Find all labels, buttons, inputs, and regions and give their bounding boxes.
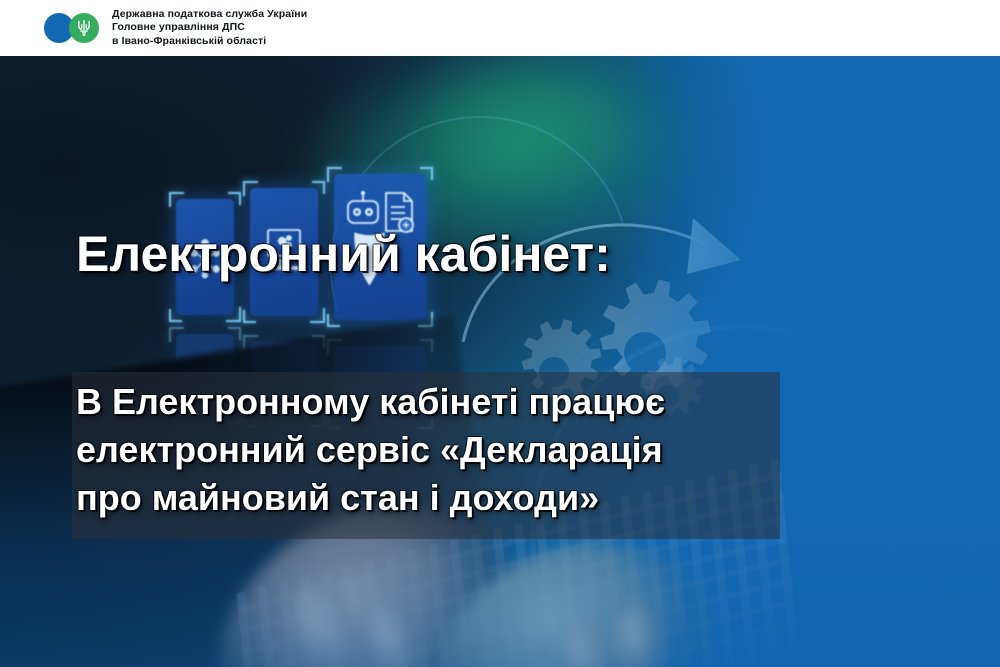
- hero-banner: Електронний кабінет: В Електронному кабі…: [0, 56, 1000, 667]
- banner-body-text: В Електронному кабінеті працює електронн…: [76, 378, 782, 522]
- banner-page: Державна податкова служба України Головн…: [0, 0, 1000, 667]
- tax-service-logo: [44, 13, 100, 43]
- trident-icon: [76, 19, 92, 37]
- site-header: Державна податкова служба України Головн…: [0, 0, 1000, 56]
- banner-headline: Електронний кабінет:: [76, 224, 611, 284]
- org-line-3: в Івано-Франківській області: [112, 35, 307, 48]
- body-line-2: електронний сервіс «Декларація: [76, 426, 782, 474]
- organization-name: Державна податкова служба України Головн…: [112, 8, 307, 48]
- body-line-3: про майновий стан і доходи»: [76, 474, 782, 522]
- org-line-1: Державна податкова служба України: [112, 8, 307, 21]
- org-line-2: Головне управління ДПС: [112, 21, 307, 34]
- body-line-1: В Електронному кабінеті працює: [76, 378, 782, 426]
